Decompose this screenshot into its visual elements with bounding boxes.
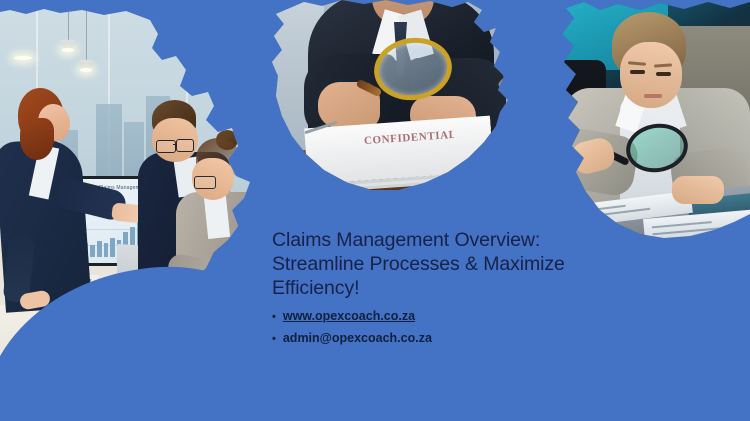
glass-mullion <box>252 0 254 232</box>
ceiling-light-glow <box>14 56 32 60</box>
person-face <box>620 42 682 108</box>
title-line-2: Streamline Processes & Maximize <box>272 252 602 276</box>
eye-left <box>630 70 645 74</box>
title-line-3: Efficiency! <box>272 276 602 300</box>
list-item-website[interactable]: • www.opexcoach.co.za <box>272 306 602 328</box>
person-hand-right <box>672 176 724 204</box>
pendant-lamp-glow <box>80 68 92 72</box>
website-link[interactable]: www.opexcoach.co.za <box>283 306 415 327</box>
eyeglasses-lens-right <box>176 139 194 152</box>
chart-bar <box>90 245 95 257</box>
title-line-1: Claims Management Overview: <box>272 228 602 252</box>
person-woman-shirt <box>204 195 230 239</box>
eyeglasses-bridge <box>173 144 177 145</box>
page-title: Claims Management Overview: Streamline P… <box>272 228 602 300</box>
contact-bullet-list: • www.opexcoach.co.za • admin@opexcoach.… <box>272 306 602 350</box>
chart-bar <box>104 243 109 257</box>
chart-bar <box>97 241 102 257</box>
eye-right <box>656 72 671 76</box>
person-redhead-hair-lower <box>20 118 54 160</box>
eyeglasses-lens <box>194 176 216 189</box>
slide-canvas: Insurance Claims Management <box>0 0 750 421</box>
text-content-block: Claims Management Overview: Streamline P… <box>272 228 602 350</box>
photo-analyst-reviewing <box>548 0 750 248</box>
bullet-icon: • <box>272 307 276 328</box>
ceiling-light-glow <box>200 72 216 76</box>
eyeglasses-lens-left <box>156 140 176 153</box>
lens-highlight <box>496 67 528 91</box>
bullet-icon: • <box>272 329 276 350</box>
photo-investigator-documents: CONFIDENTIAL <box>268 0 528 192</box>
pendant-lamp-glow <box>62 48 74 52</box>
lips <box>644 94 662 98</box>
pendant-lamp-stem <box>86 0 87 62</box>
pendant-lamp-stem <box>68 0 69 42</box>
investigator-scene: CONFIDENTIAL <box>268 0 528 192</box>
analyst-scene <box>548 0 750 248</box>
document-stack <box>304 116 493 185</box>
list-item-email[interactable]: • admin@opexcoach.co.za <box>272 328 602 350</box>
chart-bar <box>110 238 115 257</box>
email-address[interactable]: admin@opexcoach.co.za <box>283 328 432 349</box>
